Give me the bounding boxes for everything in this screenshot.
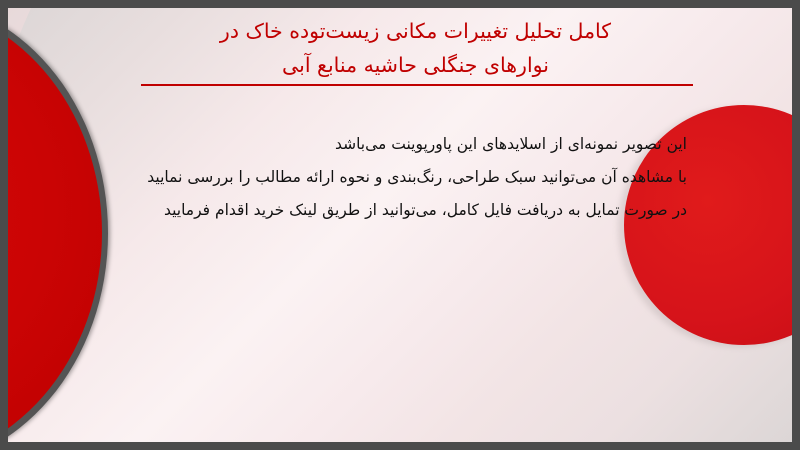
slide-title-line-1: کامل تحلیل تغییرات مکانی زیست‌توده خاک د…: [128, 14, 703, 48]
body-line-2: با مشاهده آن می‌توانید سبک طراحی، رنگ‌بن…: [77, 161, 687, 194]
slide-title: کامل تحلیل تغییرات مکانی زیست‌توده خاک د…: [128, 14, 703, 82]
title-underline-rule: [141, 84, 693, 86]
body-line-3: در صورت تمایل به دریافت فایل کامل، می‌تو…: [77, 194, 687, 227]
slide-content-area: کامل تحلیل تغییرات مکانی زیست‌توده خاک د…: [8, 8, 792, 442]
slide-title-line-2: نوارهای جنگلی حاشیه منابع آبی: [128, 48, 703, 82]
slide-body-text: این تصویر نمونه‌ای از اسلایدهای این پاور…: [77, 128, 687, 227]
body-line-1: این تصویر نمونه‌ای از اسلایدهای این پاور…: [77, 128, 687, 161]
presentation-slide: کامل تحلیل تغییرات مکانی زیست‌توده خاک د…: [0, 0, 800, 450]
